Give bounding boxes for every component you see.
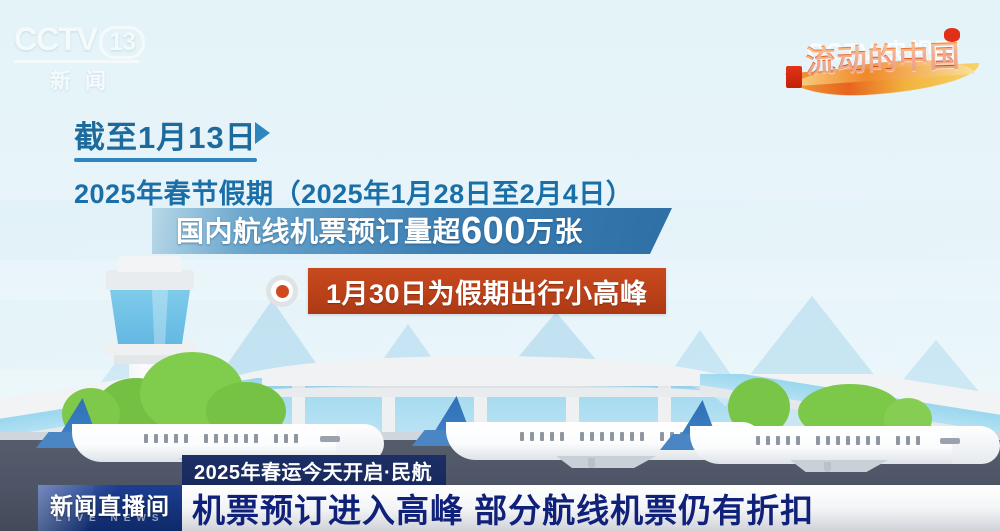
plane-window xyxy=(756,436,760,445)
plane-window xyxy=(786,436,790,445)
plane-window xyxy=(600,432,604,441)
airplane-left xyxy=(28,398,388,450)
broadcast-screen: CCTV13 新闻 CCTV 央视网 流动的中国 截至1月13日 2025年春节… xyxy=(0,0,1000,531)
plane-window xyxy=(540,432,544,441)
plane-window xyxy=(550,432,554,441)
plane-window xyxy=(590,432,594,441)
plane-window xyxy=(896,436,900,445)
plane-window xyxy=(234,434,238,443)
blue-banner-suffix: 万张 xyxy=(526,216,583,247)
headline-line1-wrap: 截至1月13日 xyxy=(74,112,814,162)
plane-window xyxy=(866,436,870,445)
blue-banner-prefix: 国内航线机票预订量超 xyxy=(176,216,461,247)
plane-landing-gear xyxy=(588,458,595,468)
plane-window xyxy=(154,434,158,443)
circle-dot-core xyxy=(276,285,289,298)
topic-bar-text: 2025年春运今天开启·民航 xyxy=(194,456,432,485)
as-of-date-label: 截至1月13日 xyxy=(74,112,257,162)
plane-window xyxy=(294,434,298,443)
channel-logo-number: 13 xyxy=(99,26,145,59)
plane-window xyxy=(214,434,218,443)
plane-landing-gear xyxy=(824,462,831,472)
headline-bar: 机票预订进入高峰 部分航线机票仍有折扣 xyxy=(182,485,1000,531)
channel-logo: CCTV13 新闻 xyxy=(14,22,146,88)
plane-window xyxy=(580,432,584,441)
plane-window xyxy=(620,432,624,441)
plane-window xyxy=(906,436,910,445)
plane-window xyxy=(640,432,644,441)
plane-window xyxy=(776,436,780,445)
infographic-text-block: 截至1月13日 2025年春节假期（2025年1月28日至2月4日） xyxy=(74,112,814,211)
tower-cap-lower xyxy=(106,270,194,290)
plane-window xyxy=(766,436,770,445)
program-logo-title: 流动的中国 xyxy=(787,31,978,82)
plane-window xyxy=(796,436,800,445)
plane-window xyxy=(254,434,258,443)
plane-window xyxy=(876,436,880,445)
program-sub-label: LIVE NEWS xyxy=(46,513,174,524)
red-stat-banner: 1月30日为假期出行小高峰 xyxy=(308,268,666,314)
plane-window xyxy=(204,434,208,443)
plane-window xyxy=(630,432,634,441)
plane-window xyxy=(560,432,564,441)
plane-window xyxy=(846,436,850,445)
headline-text: 机票预订进入高峰 部分航线机票仍有折扣 xyxy=(192,484,814,531)
plane-window xyxy=(224,434,228,443)
plane-window xyxy=(244,434,248,443)
airplane-right xyxy=(660,398,1000,450)
circle-dot-ring xyxy=(271,280,293,302)
plane-window xyxy=(916,436,920,445)
right-triangle-icon xyxy=(255,122,270,144)
underline-rule xyxy=(74,158,257,162)
blue-stat-banner: 国内航线机票预订量超600万张 xyxy=(152,208,672,254)
as-of-date-text: 截至1月13日 xyxy=(74,120,257,155)
channel-logo-divider xyxy=(14,60,140,63)
plane-door xyxy=(940,438,960,444)
blue-banner-text: 国内航线机票预订量超600万张 xyxy=(176,210,583,253)
plane-window xyxy=(826,436,830,445)
blue-banner-number: 600 xyxy=(461,210,526,252)
plane-window xyxy=(274,434,278,443)
terminal-roof xyxy=(230,356,730,386)
plane-window xyxy=(520,432,524,441)
plane-door xyxy=(320,436,340,442)
plane-window xyxy=(856,436,860,445)
plane-window xyxy=(184,434,188,443)
holiday-period-label: 2025年春节假期（2025年1月28日至2月4日） xyxy=(74,172,814,211)
tower-glass xyxy=(110,290,190,344)
plane-nose xyxy=(952,426,1000,464)
red-banner-text: 1月30日为假期出行小高峰 xyxy=(326,272,648,311)
channel-logo-sub: 新闻 xyxy=(14,65,146,95)
tower-cap xyxy=(118,256,182,272)
plane-window xyxy=(174,434,178,443)
plane-window xyxy=(144,434,148,443)
plane-window xyxy=(816,436,820,445)
program-logo: CCTV 央视网 流动的中国 xyxy=(780,14,986,100)
circle-dot-icon xyxy=(266,275,298,307)
topic-bar: 2025年春运今天开启·民航 xyxy=(182,455,446,485)
plane-window xyxy=(164,434,168,443)
plane-window xyxy=(836,436,840,445)
channel-logo-cctv: CCTV xyxy=(14,21,97,57)
plane-window xyxy=(284,434,288,443)
channel-logo-text: CCTV13 xyxy=(14,22,146,59)
plane-window xyxy=(530,432,534,441)
plane-window xyxy=(610,432,614,441)
plane-fuselage xyxy=(690,426,980,464)
program-brand-box: 新闻直播间 LIVE NEWS xyxy=(38,485,182,531)
